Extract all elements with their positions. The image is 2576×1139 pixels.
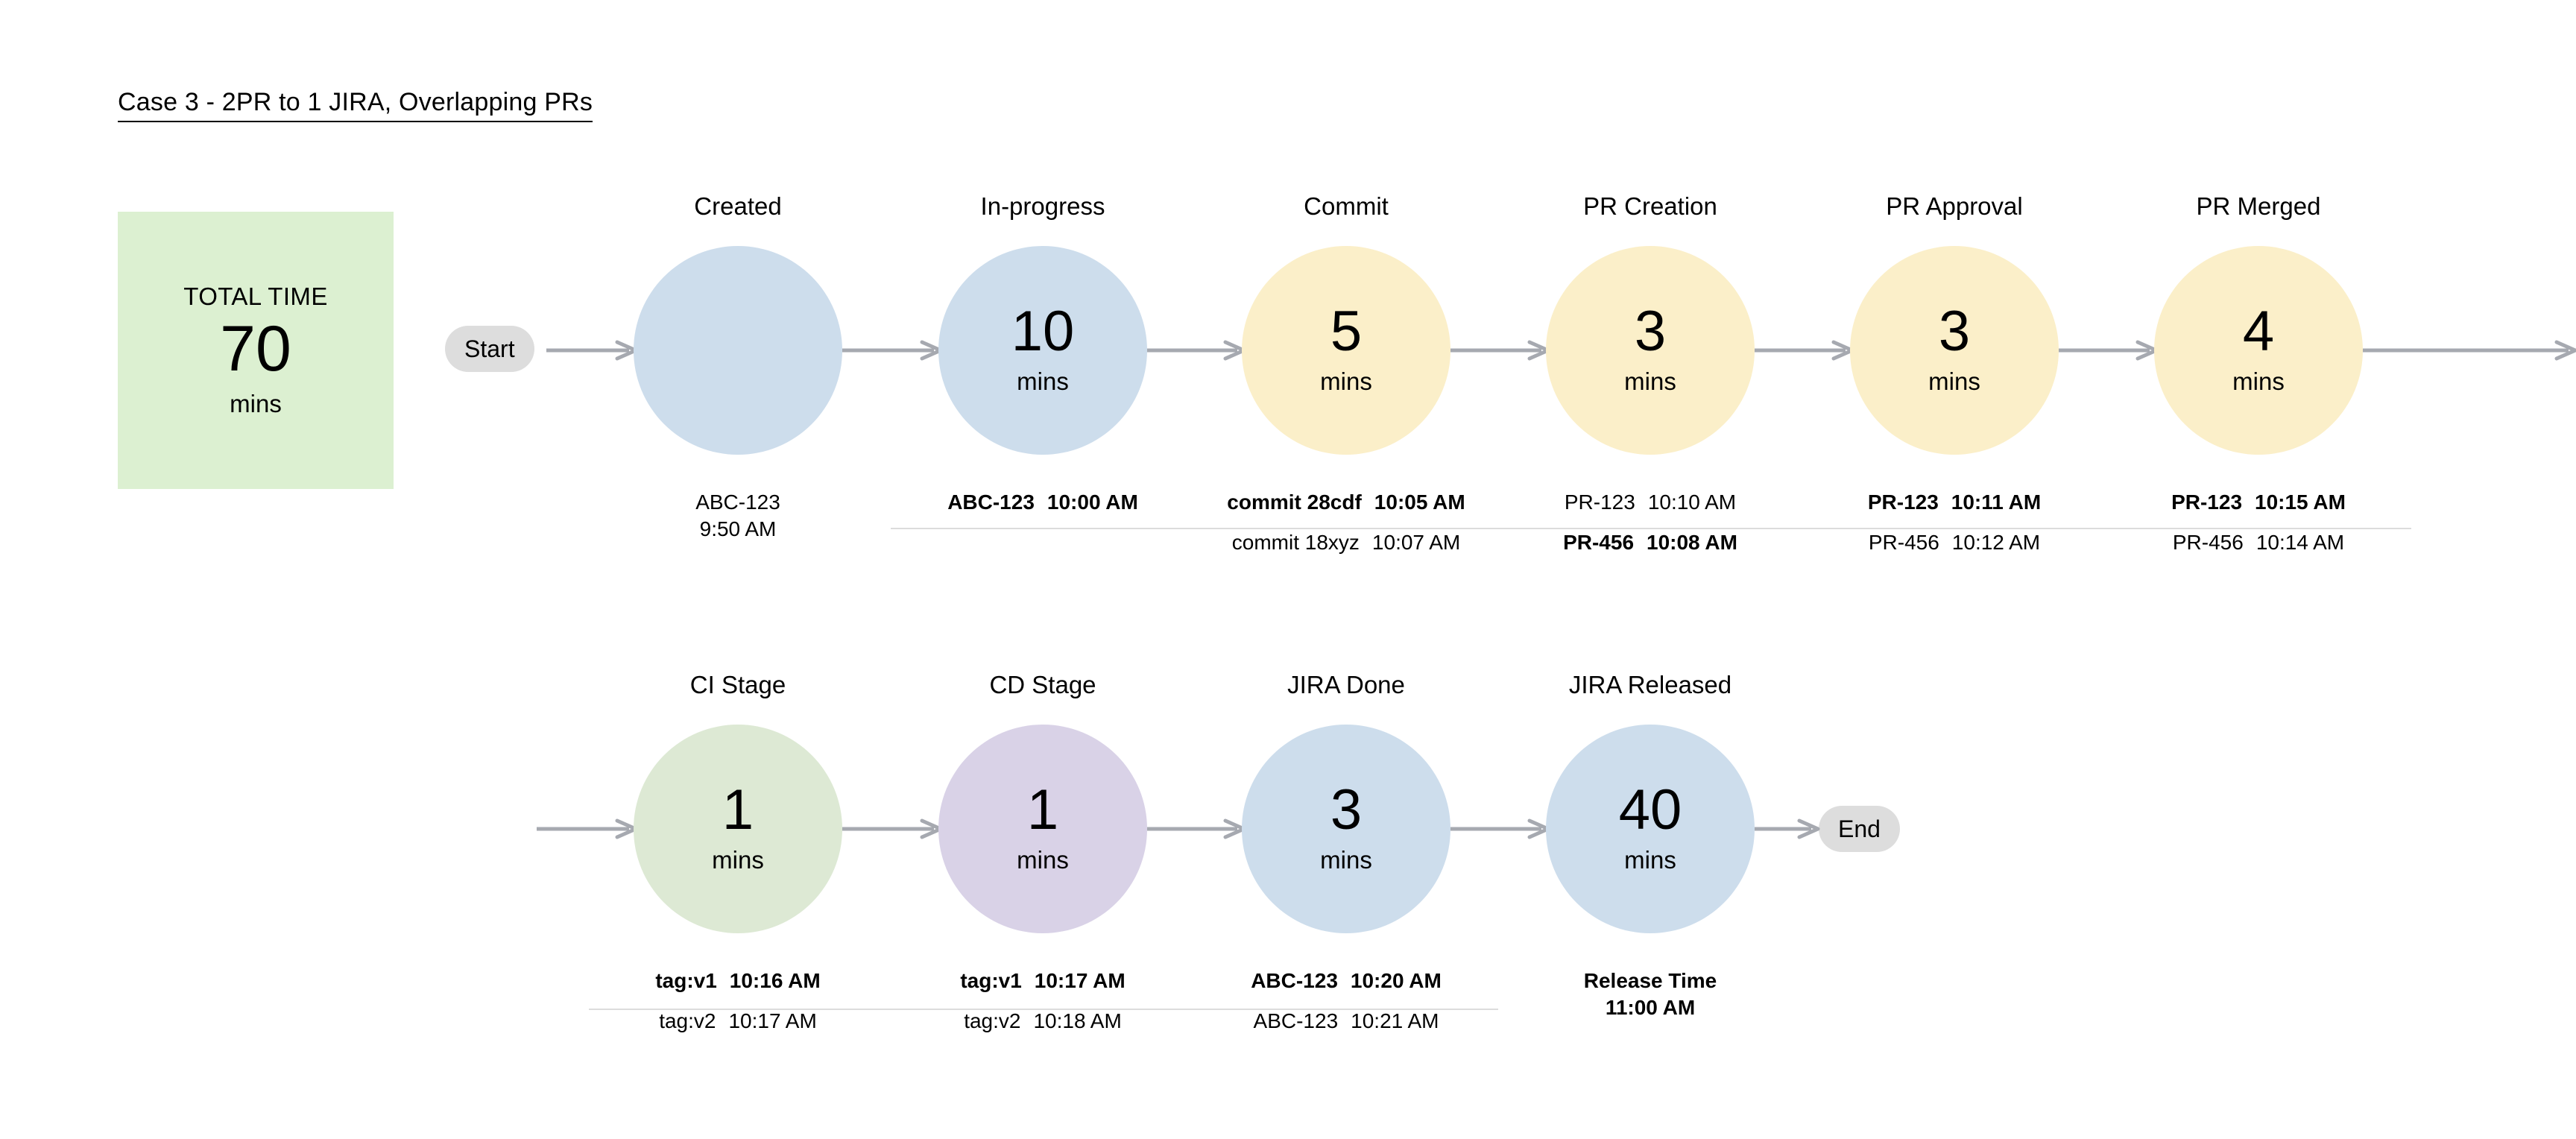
stage-circle[interactable]: 1mins [634, 725, 842, 933]
detail-time: 10:20 AM [1351, 971, 1442, 991]
detail-row: PR-45610:14 AM [2173, 532, 2344, 553]
detail-time: 10:21 AM [1351, 1011, 1439, 1032]
stage-details: ABC-1239:50 AM [695, 492, 780, 546]
stage-duration-unit: mins [1624, 367, 1676, 396]
stage-details: tag:v110:17 AMtag:v210:18 AM [960, 971, 1125, 1032]
detail-ref: PR-456 [2173, 532, 2244, 553]
stage-duration-unit: mins [1017, 846, 1069, 874]
detail-time: 10:12 AM [1952, 532, 2040, 553]
detail-time: 10:11 AM [1951, 492, 2041, 513]
stage-details: ABC-12310:20 AMABC-12310:21 AM [1251, 971, 1442, 1032]
arrow-row1-4 [2059, 341, 2157, 360]
detail-ref: ABC-123 [1251, 971, 1338, 991]
stage-circle[interactable]: 3mins [1242, 725, 1450, 933]
stage-header: PR Merged [2197, 192, 2321, 221]
detail-row: PR-45610:08 AM [1563, 532, 1737, 553]
stage-duration-value: 40 [1619, 783, 1682, 838]
stage-circle[interactable]: 40mins [1546, 725, 1755, 933]
detail-ref: PR-123 [1868, 492, 1939, 513]
stage-circle[interactable]: 1mins [938, 725, 1147, 933]
stage-header: PR Creation [1583, 192, 1717, 221]
end-pill[interactable]: End [1819, 806, 1900, 852]
stage-duration-value: 4 [2243, 305, 2274, 359]
stage-header: PR Approval [1886, 192, 2022, 221]
row2-detail-separator [589, 1009, 1498, 1010]
detail-ref: PR-456 [1869, 532, 1939, 553]
stage-header: CD Stage [989, 671, 1096, 699]
total-time-unit: mins [230, 390, 282, 418]
row1-detail-separator [891, 528, 2411, 529]
arrow-row2-1 [1147, 819, 1245, 839]
detail-row: PR-45610:12 AM [1869, 532, 2040, 553]
detail-time: 11:00 AM [1606, 997, 1695, 1018]
detail-ref: PR-123 [1565, 492, 1635, 513]
stage-details: Release Time11:00 AM [1584, 971, 1717, 1024]
stage-duration-unit: mins [1017, 367, 1069, 396]
stage-details: commit 28cdf10:05 AMcommit 18xyz10:07 AM [1227, 492, 1465, 553]
detail-row: ABC-12310:21 AM [1254, 1011, 1439, 1032]
detail-row: ABC-12310:00 AM [947, 492, 1138, 513]
stage-duration-value: 10 [1011, 305, 1075, 359]
detail-time: 10:08 AM [1647, 532, 1737, 553]
stage-duration-unit: mins [2232, 367, 2285, 396]
stage-duration-value: 1 [722, 783, 754, 838]
stage-duration-unit: mins [1320, 367, 1372, 396]
detail-time: 10:17 AM [1035, 971, 1126, 991]
arrow-row1-1 [1147, 341, 1245, 360]
arrow-row1-0 [842, 341, 941, 360]
stage-duration-value: 5 [1330, 305, 1362, 359]
detail-row: PR-12310:10 AM [1565, 492, 1736, 513]
detail-ref: Release Time [1584, 971, 1717, 991]
detail-ref: tag:v2 [964, 1011, 1020, 1032]
detail-ref: PR-123 [2171, 492, 2242, 513]
total-time-card: TOTAL TIME 70 mins [118, 212, 394, 489]
stage-header: JIRA Done [1287, 671, 1405, 699]
detail-time: 10:15 AM [2255, 492, 2346, 513]
stage-header: Created [694, 192, 781, 221]
detail-row: ABC-12310:20 AM [1251, 971, 1442, 991]
detail-time: 10:17 AM [728, 1011, 816, 1032]
detail-row: commit 28cdf10:05 AM [1227, 492, 1465, 513]
arrow-released-to-end [1755, 819, 1819, 839]
detail-row: tag:v210:18 AM [964, 1011, 1122, 1032]
detail-row: tag:v110:17 AM [960, 971, 1125, 991]
arrow-row1-continue [2363, 341, 2576, 360]
stage-circle[interactable]: 4mins [2154, 246, 2363, 455]
stage-header: Commit [1304, 192, 1389, 221]
detail-ref: commit 28cdf [1227, 492, 1362, 513]
detail-row: PR-12310:11 AM [1868, 492, 2041, 513]
stage-duration-value: 3 [1635, 305, 1666, 359]
stage-duration-value: 3 [1330, 783, 1362, 838]
total-time-value: 70 [220, 317, 291, 382]
detail-time: 10:16 AM [730, 971, 821, 991]
detail-ref: tag:v2 [659, 1011, 716, 1032]
stage-duration-value: 1 [1027, 783, 1058, 838]
stage-circle[interactable] [634, 246, 842, 455]
stage-details: tag:v110:16 AMtag:v210:17 AM [655, 971, 820, 1032]
stage-duration-unit: mins [1928, 367, 1980, 396]
detail-row: tag:v110:16 AM [655, 971, 820, 991]
detail-ref: ABC-123 [947, 492, 1035, 513]
detail-ref: PR-456 [1563, 532, 1634, 553]
detail-time: 10:07 AM [1372, 532, 1460, 553]
detail-ref: commit 18xyz [1232, 532, 1360, 553]
stage-circle[interactable]: 3mins [1546, 246, 1755, 455]
detail-time: 10:14 AM [2256, 532, 2344, 553]
detail-ref: ABC-123 [695, 492, 780, 513]
arrow-row1-2 [1450, 341, 1549, 360]
arrow-row2-continue-in [537, 819, 637, 839]
detail-time: 10:05 AM [1374, 492, 1465, 513]
detail-time: 10:18 AM [1033, 1011, 1121, 1032]
arrow-row2-0 [842, 819, 941, 839]
stage-duration-unit: mins [712, 846, 764, 874]
total-time-label: TOTAL TIME [183, 283, 327, 311]
detail-row: ABC-1239:50 AM [695, 492, 780, 546]
stage-circle[interactable]: 10mins [938, 246, 1147, 455]
arrow-start-to-created [546, 341, 637, 360]
detail-ref: tag:v1 [960, 971, 1021, 991]
detail-time: 10:10 AM [1648, 492, 1736, 513]
stage-details: PR-12310:11 AMPR-45610:12 AM [1868, 492, 2041, 553]
stage-header: In-progress [981, 192, 1105, 221]
detail-row: commit 18xyz10:07 AM [1232, 532, 1460, 553]
detail-ref: ABC-123 [1254, 1011, 1339, 1032]
stage-header: JIRA Released [1569, 671, 1731, 699]
stage-circle[interactable]: 5mins [1242, 246, 1450, 455]
stage-duration-unit: mins [1320, 846, 1372, 874]
page-title: Case 3 - 2PR to 1 JIRA, Overlapping PRs [118, 88, 593, 122]
stage-duration-unit: mins [1624, 846, 1676, 874]
stage-duration-value: 3 [1939, 305, 1970, 359]
detail-row: Release Time11:00 AM [1584, 971, 1717, 1024]
stage-circle[interactable]: 3mins [1850, 246, 2059, 455]
stage-details: ABC-12310:00 AM [947, 492, 1138, 513]
arrow-row2-2 [1450, 819, 1549, 839]
detail-ref: tag:v1 [655, 971, 716, 991]
detail-time: 10:00 AM [1047, 492, 1138, 513]
diagram-canvas: Case 3 - 2PR to 1 JIRA, Overlapping PRs … [0, 0, 2576, 1139]
start-pill[interactable]: Start [445, 326, 534, 372]
arrow-row1-3 [1755, 341, 1853, 360]
stage-details: PR-12310:10 AMPR-45610:08 AM [1563, 492, 1737, 553]
detail-time: 9:50 AM [700, 519, 777, 540]
detail-row: tag:v210:17 AM [659, 1011, 817, 1032]
detail-row: PR-12310:15 AM [2171, 492, 2346, 513]
stage-details: PR-12310:15 AMPR-45610:14 AM [2171, 492, 2346, 553]
stage-header: CI Stage [690, 671, 786, 699]
